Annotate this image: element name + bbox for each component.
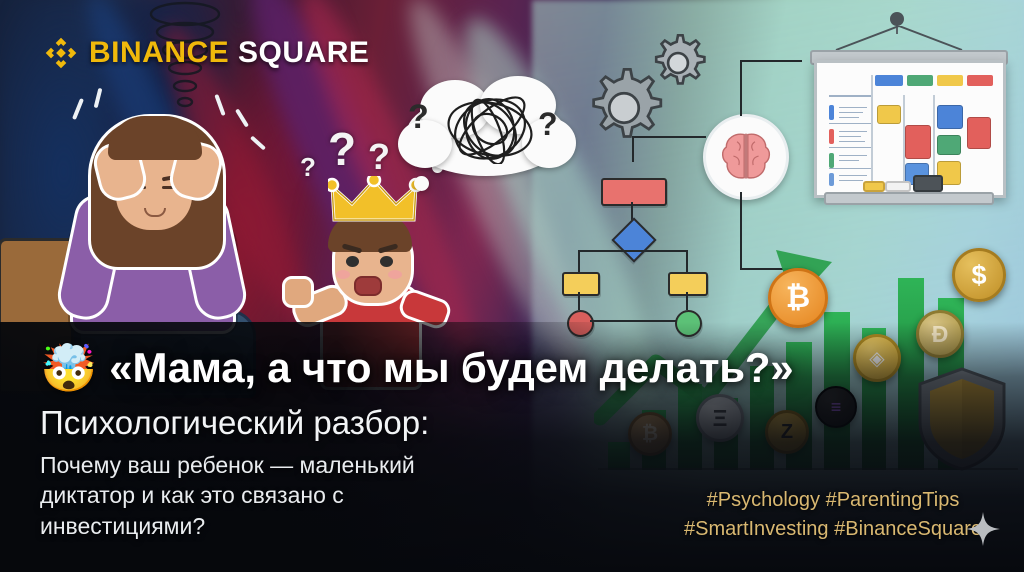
sticky-note bbox=[877, 105, 901, 124]
four-point-sparkle-icon bbox=[966, 512, 1000, 546]
board-swatch bbox=[875, 75, 903, 86]
bitcoin-coin: ₿ bbox=[768, 268, 828, 328]
headline-row: 🤯 «Мама, а что мы будем делать?» bbox=[40, 344, 793, 392]
sticky-note bbox=[967, 117, 991, 149]
hashtag-line[interactable]: #Psychology #ParentingTips bbox=[684, 486, 982, 515]
hashtag-block: #Psychology #ParentingTips #SmartInvesti… bbox=[684, 486, 982, 544]
question-mark: ? bbox=[300, 152, 316, 183]
question-mark: ? bbox=[368, 136, 390, 178]
body-line: диктатор и как это связано с bbox=[40, 480, 415, 510]
thought-bubble: ? ? bbox=[398, 76, 574, 186]
body-line: инвестициями? bbox=[40, 511, 415, 541]
sticky-note bbox=[905, 125, 931, 159]
question-mark: ? bbox=[328, 122, 356, 176]
sticky-note bbox=[937, 135, 961, 155]
body-line: Почему ваш ребенок — маленький bbox=[40, 450, 415, 480]
banner-canvas: ₿ $ Ɖ ◈ Ξ ≡ Z ₿ bbox=[0, 0, 1024, 572]
logo-text-binance: BINANCE bbox=[89, 36, 229, 69]
logo-text-square: SQUARE bbox=[238, 36, 369, 69]
board-swatch bbox=[937, 75, 963, 86]
binance-diamond-icon bbox=[44, 36, 78, 70]
body-text: Почему ваш ребенок — маленький диктатор … bbox=[40, 450, 415, 541]
gear-icon-small bbox=[645, 30, 711, 96]
hashtag-line[interactable]: #SmartInvesting #BinanceSquare bbox=[684, 515, 982, 544]
whiteboard bbox=[800, 32, 1014, 222]
page-title: «Мама, а что мы будем делать?» bbox=[109, 344, 793, 392]
dollar-coin: $ bbox=[952, 248, 1006, 302]
binance-square-logo[interactable]: BINANCE SQUARE bbox=[44, 36, 369, 70]
subtitle: Психологический разбор: bbox=[40, 404, 429, 442]
exploding-head-emoji: 🤯 bbox=[40, 345, 97, 391]
flow-start-box bbox=[601, 178, 667, 206]
sticky-note bbox=[937, 105, 963, 129]
board-swatch bbox=[967, 75, 993, 86]
flow-connector-to-board bbox=[740, 60, 742, 116]
board-swatch bbox=[907, 75, 933, 86]
scribble-icon bbox=[442, 94, 538, 164]
flow-connector-to-board bbox=[740, 60, 802, 62]
